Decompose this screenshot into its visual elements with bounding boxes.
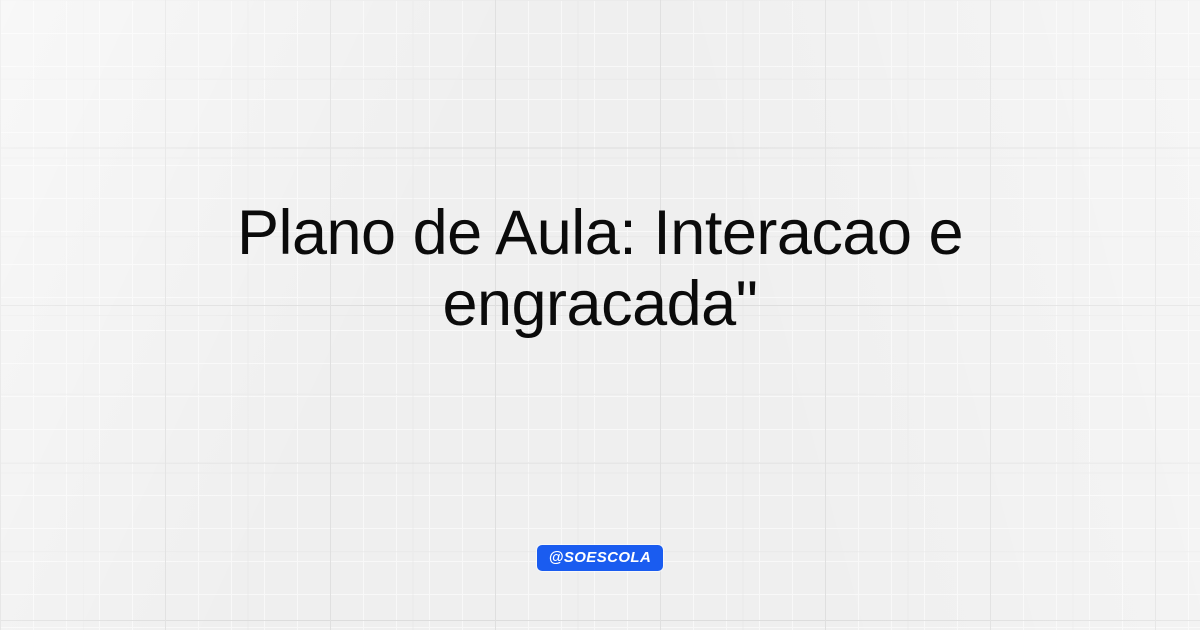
lesson-plan-banner: Plano de Aula: Interacao e engracada" @S… [0,0,1200,630]
brand-handle-badge: @SOESCOLA [537,545,663,571]
page-title: Plano de Aula: Interacao e engracada" [100,198,1100,340]
handle-badge-container: @SOESCOLA [0,545,1200,571]
